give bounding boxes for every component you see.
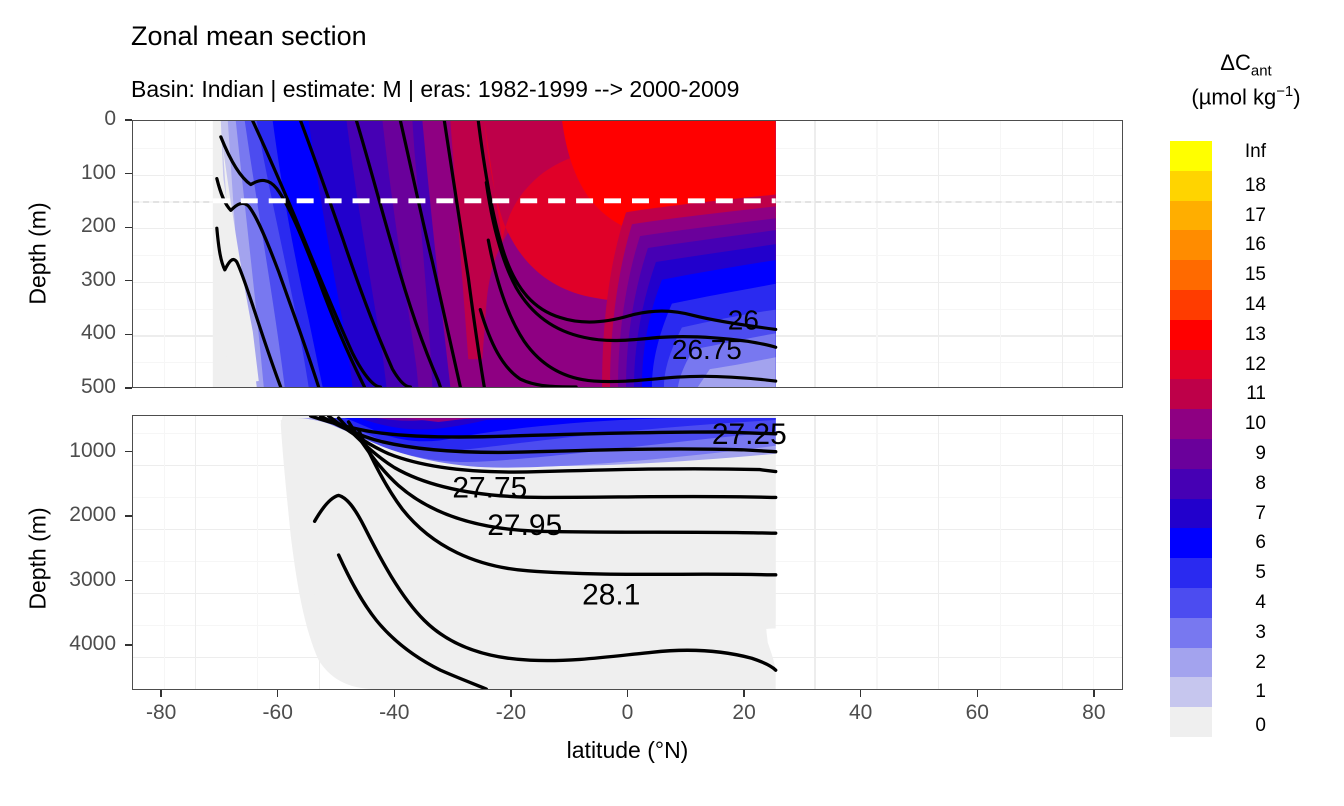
y-axis-label: 200 <box>32 214 116 238</box>
legend-units-sup: −1 <box>1276 83 1293 100</box>
colorbar-legend: ΔCant (µmol kg−1) Inf1817161514131211109… <box>1160 28 1340 768</box>
x-axis-tick <box>160 690 161 697</box>
colorbar-label: 15 <box>1218 264 1266 286</box>
x-axis-tick <box>394 690 395 697</box>
legend-title-delta: ΔC <box>1220 50 1251 75</box>
colorbar-band <box>1170 379 1212 409</box>
y-axis-label: 2000 <box>32 503 116 527</box>
y-axis-label: 400 <box>32 321 116 345</box>
colorbar-label: 14 <box>1218 294 1266 316</box>
x-axis-label: 20 <box>704 701 784 725</box>
x-axis-label: -80 <box>121 701 201 725</box>
colorbar-label: 12 <box>1218 354 1266 376</box>
colorbar-label: 8 <box>1218 473 1266 495</box>
colorbar-band <box>1170 677 1212 707</box>
colorbar-label: 16 <box>1218 234 1266 256</box>
contour-label-27-95: 27.95 <box>487 509 562 542</box>
colorbar-label: 3 <box>1218 622 1266 644</box>
colorbar-band <box>1170 528 1212 558</box>
y-axis-tick <box>125 173 132 174</box>
colorbar-label: 1 <box>1218 681 1266 703</box>
x-axis-label: -20 <box>471 701 551 725</box>
colorbar-label: 10 <box>1218 413 1266 435</box>
colorbar-label: 11 <box>1218 383 1266 405</box>
colorbar-label: 17 <box>1218 205 1266 227</box>
x-axis-tick <box>627 690 628 697</box>
y-axis-label: 300 <box>32 268 116 292</box>
colorbar-band <box>1170 350 1212 380</box>
x-axis-label: 60 <box>937 701 1017 725</box>
contour-label-28-1: 28.1 <box>582 579 640 612</box>
colorbar-label: 6 <box>1218 532 1266 554</box>
y-axis-title-upper: Depth (m) <box>25 174 52 334</box>
legend-title: ΔCant <box>1160 50 1332 79</box>
colorbar-band <box>1170 201 1212 231</box>
y-axis-tick <box>125 119 132 120</box>
x-axis-tick <box>977 690 978 697</box>
chart-root: Zonal mean section Basin: Indian | estim… <box>0 0 1344 806</box>
colorbar-label: 7 <box>1218 503 1266 525</box>
mld-reference-line <box>133 121 1122 387</box>
page-subtitle: Basin: Indian | estimate: M | eras: 1982… <box>131 76 739 103</box>
upper-depth-panel: 26 26.75 <box>132 120 1123 388</box>
colorbar-band <box>1170 409 1212 439</box>
x-axis-label: 80 <box>1054 701 1134 725</box>
colorbar-band <box>1170 648 1212 678</box>
x-axis-tick <box>1093 690 1094 697</box>
y-axis-label: 1000 <box>32 439 116 463</box>
colorbar-label: 0 <box>1218 715 1266 737</box>
legend-units: (µmol kg−1) <box>1160 83 1332 110</box>
contour-label-27-75: 27.75 <box>452 471 527 504</box>
colorbar-band <box>1170 439 1212 469</box>
legend-units-pre: (µmol kg <box>1191 84 1276 109</box>
colorbar-band <box>1170 290 1212 320</box>
colorbar-gradient <box>1170 141 1212 737</box>
y-axis-label: 3000 <box>32 568 116 592</box>
legend-title-sub: ant <box>1251 62 1272 79</box>
deep-panel-contour-field: 27.25 27.75 27.95 28.1 <box>133 416 1122 689</box>
x-axis-label: 0 <box>588 701 668 725</box>
x-axis-label: 40 <box>821 701 901 725</box>
x-axis-label: -60 <box>238 701 318 725</box>
y-axis-label: 100 <box>32 161 116 185</box>
y-axis-tick <box>125 580 132 581</box>
colorbar-tick-labels: Inf1817161514131211109876543210 <box>1218 141 1288 737</box>
colorbar-label: Inf <box>1218 141 1266 163</box>
colorbar-band <box>1170 171 1212 201</box>
colorbar-band <box>1170 260 1212 290</box>
colorbar-label: 4 <box>1218 592 1266 614</box>
y-axis-label: 4000 <box>32 632 116 656</box>
colorbar-label: 5 <box>1218 562 1266 584</box>
contour-label-27-25: 27.25 <box>712 418 787 451</box>
y-axis-tick <box>125 280 132 281</box>
y-axis-tick <box>125 644 132 645</box>
legend-units-post: ) <box>1293 84 1300 109</box>
y-axis-label: 500 <box>32 375 116 399</box>
deep-depth-panel: 27.25 27.75 27.95 28.1 <box>132 415 1123 690</box>
colorbar-label: 2 <box>1218 652 1266 674</box>
colorbar-label: 9 <box>1218 443 1266 465</box>
y-axis-tick <box>125 334 132 335</box>
colorbar-band <box>1170 320 1212 350</box>
x-axis-label: -40 <box>354 701 434 725</box>
y-axis-label: 0 <box>32 107 116 131</box>
x-axis-tick <box>277 690 278 697</box>
colorbar-band <box>1170 618 1212 648</box>
y-axis-tick <box>125 515 132 516</box>
y-axis-tick <box>125 451 132 452</box>
page-title: Zonal mean section <box>131 21 367 52</box>
colorbar-band <box>1170 558 1212 588</box>
colorbar-band <box>1170 230 1212 260</box>
colorbar-band <box>1170 469 1212 499</box>
colorbar-band <box>1170 707 1212 737</box>
colorbar-band <box>1170 499 1212 529</box>
y-axis-tick <box>125 387 132 388</box>
y-axis-tick <box>125 227 132 228</box>
colorbar-label: 13 <box>1218 324 1266 346</box>
colorbar-label: 18 <box>1218 175 1266 197</box>
x-axis-tick <box>743 690 744 697</box>
colorbar-band <box>1170 141 1212 171</box>
x-axis-title: latitude (°N) <box>132 737 1123 764</box>
x-axis-tick <box>860 690 861 697</box>
colorbar-band <box>1170 588 1212 618</box>
x-axis-tick <box>510 690 511 697</box>
